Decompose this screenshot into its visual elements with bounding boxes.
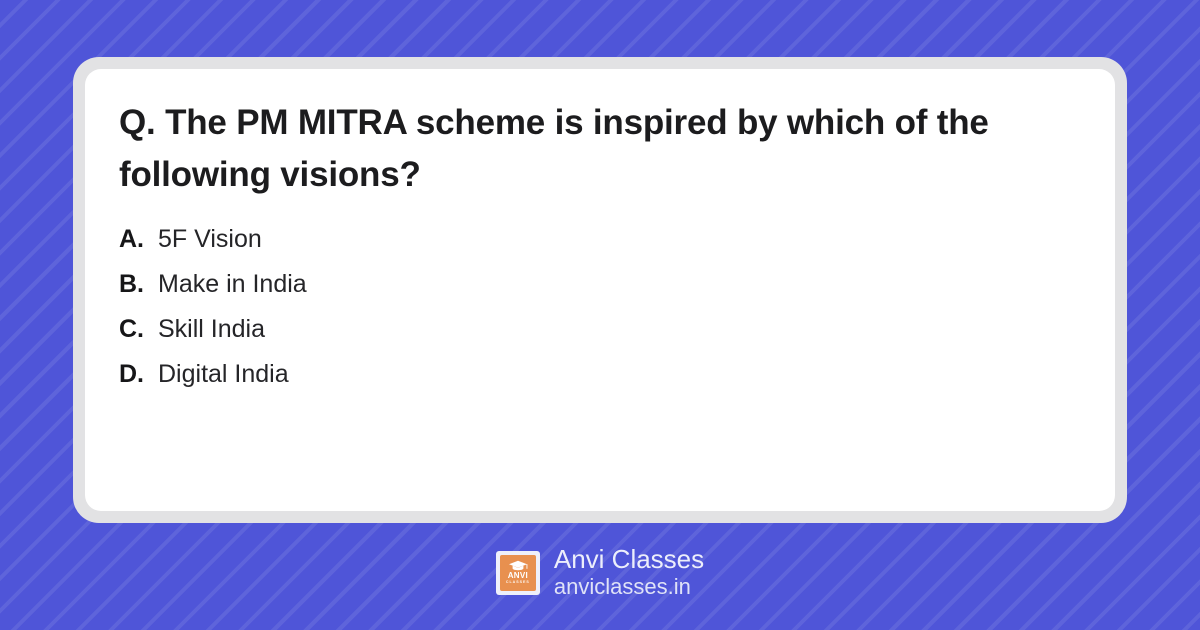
option-row-c[interactable]: C. Skill India — [119, 315, 1081, 360]
option-row-a[interactable]: A. 5F Vision — [119, 225, 1081, 270]
option-text-b: Make in India — [158, 270, 307, 299]
option-letter-a: A. — [119, 225, 149, 254]
option-row-d[interactable]: D. Digital India — [119, 360, 1081, 405]
brand-text-block: Anvi Classes anviclasses.in — [554, 545, 704, 600]
graduation-cap-icon — [508, 560, 528, 571]
options-list: A. 5F Vision B. Make in India C. Skill I… — [119, 225, 1081, 405]
brand-logo: ANVI CLASSES — [496, 551, 540, 595]
slide-canvas: Q. The PM MITRA scheme is inspired by wh… — [0, 0, 1200, 630]
brand-logo-subtitle: CLASSES — [506, 581, 530, 585]
brand-url: anviclasses.in — [554, 574, 704, 600]
question-text: Q. The PM MITRA scheme is inspired by wh… — [119, 97, 1049, 201]
option-letter-b: B. — [119, 270, 149, 299]
brand-title: Anvi Classes — [554, 545, 704, 574]
option-row-b[interactable]: B. Make in India — [119, 270, 1081, 315]
option-text-c: Skill India — [158, 315, 265, 344]
question-card-body: Q. The PM MITRA scheme is inspired by wh… — [85, 69, 1115, 511]
option-letter-d: D. — [119, 360, 149, 389]
brand-footer: ANVI CLASSES Anvi Classes anviclasses.in — [0, 545, 1200, 600]
option-text-a: 5F Vision — [158, 225, 262, 254]
option-letter-c: C. — [119, 315, 149, 344]
option-text-d: Digital India — [158, 360, 289, 389]
brand-logo-square: ANVI CLASSES — [500, 555, 536, 591]
brand-logo-name: ANVI — [508, 572, 528, 580]
question-card: Q. The PM MITRA scheme is inspired by wh… — [73, 57, 1127, 523]
